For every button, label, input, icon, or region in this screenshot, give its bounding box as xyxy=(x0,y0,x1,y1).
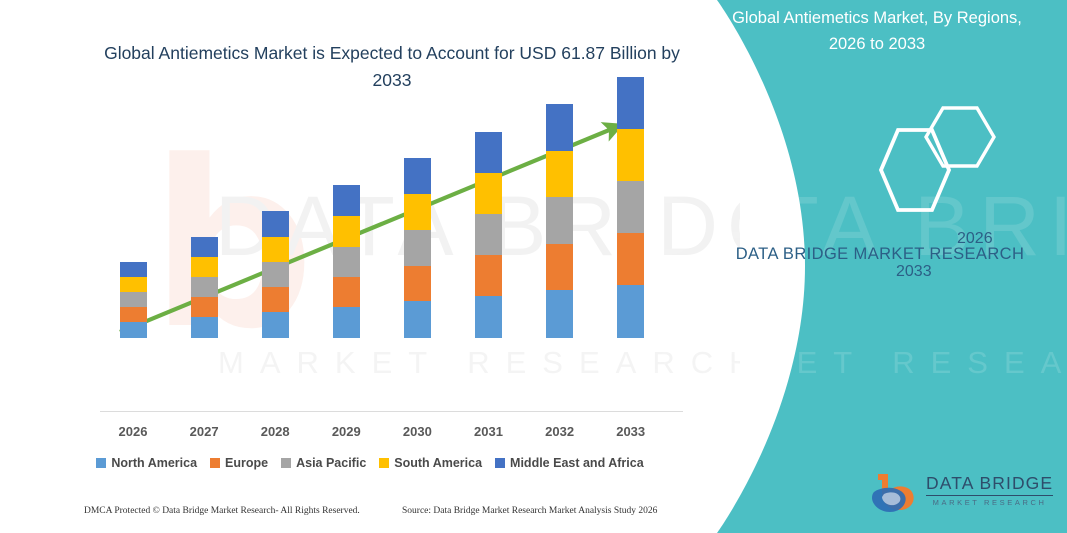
x-label-2033: 2033 xyxy=(601,424,661,439)
bar-segment xyxy=(333,216,360,247)
chart-legend: North AmericaEuropeAsia PacificSouth Ame… xyxy=(0,456,740,470)
bar-segment xyxy=(475,132,502,173)
right-info-panel: DATA BRIDGE MARKET RESEARCH Global Antie… xyxy=(687,0,1067,533)
bar-segment xyxy=(404,230,431,266)
bar-segment xyxy=(333,277,360,307)
bar-segment xyxy=(191,317,218,338)
bar-2032 xyxy=(546,104,573,338)
legend-swatch-icon xyxy=(379,458,389,468)
hexagon-group: 2026 2033 xyxy=(785,100,1005,210)
bar-segment xyxy=(333,307,360,338)
bar-segment xyxy=(191,277,218,297)
bar-2031 xyxy=(475,132,502,338)
bar-segment xyxy=(120,307,147,322)
legend-label: North America xyxy=(111,456,197,470)
data-bridge-logo: DATA BRIDGE MARKET RESEARCH xyxy=(868,470,1048,518)
bar-2030 xyxy=(404,158,431,338)
bar-segment xyxy=(475,214,502,255)
bar-segment xyxy=(262,237,289,262)
legend-label: Middle East and Africa xyxy=(510,456,644,470)
bar-2033 xyxy=(617,77,644,338)
bar-segment xyxy=(262,211,289,237)
logo-mark-icon xyxy=(868,470,924,516)
x-label-2027: 2027 xyxy=(174,424,234,439)
bar-2026 xyxy=(120,262,147,338)
legend-label: Europe xyxy=(225,456,268,470)
logo-sub-text: MARKET RESEARCH xyxy=(926,498,1053,507)
bar-segment xyxy=(546,244,573,290)
x-label-2030: 2030 xyxy=(387,424,447,439)
bar-2029 xyxy=(333,185,360,338)
hexagon-2033 xyxy=(881,130,949,210)
bar-segment xyxy=(262,262,289,287)
hexagon-shapes xyxy=(785,100,1005,215)
bar-segment xyxy=(617,285,644,338)
bar-segment xyxy=(475,296,502,338)
footer-copyright: DMCA Protected © Data Bridge Market Rese… xyxy=(84,506,360,516)
legend-label: South America xyxy=(394,456,482,470)
bar-segment xyxy=(404,158,431,194)
bar-segment xyxy=(333,247,360,277)
bar-segment xyxy=(262,312,289,338)
legend-item[interactable]: North America xyxy=(96,456,197,470)
bar-segment xyxy=(191,237,218,257)
bar-segment xyxy=(475,173,502,214)
bar-segment xyxy=(617,233,644,285)
bar-2027 xyxy=(191,237,218,338)
bar-segment xyxy=(617,77,644,129)
footer-source: Source: Data Bridge Market Research Mark… xyxy=(402,506,657,516)
bar-segment xyxy=(475,255,502,296)
legend-item[interactable]: South America xyxy=(379,456,482,470)
bar-segment xyxy=(191,297,218,317)
legend-swatch-icon xyxy=(210,458,220,468)
legend-swatch-icon xyxy=(495,458,505,468)
bar-segment xyxy=(120,277,147,292)
bar-segment xyxy=(546,290,573,338)
logo-wordmark: DATA BRIDGE MARKET RESEARCH xyxy=(926,473,1053,507)
bar-segment xyxy=(191,257,218,277)
bar-segment xyxy=(617,181,644,233)
x-label-2028: 2028 xyxy=(245,424,305,439)
x-label-2032: 2032 xyxy=(530,424,590,439)
logo-main-text: DATA BRIDGE xyxy=(926,473,1053,496)
legend-item[interactable]: Europe xyxy=(210,456,268,470)
bar-segment xyxy=(404,301,431,338)
bar-segment xyxy=(262,287,289,312)
legend-swatch-icon xyxy=(281,458,291,468)
footer: DMCA Protected © Data Bridge Market Rese… xyxy=(0,506,740,526)
bar-segment xyxy=(546,104,573,151)
bar-segment xyxy=(120,292,147,307)
bar-segment xyxy=(404,194,431,230)
bar-segment xyxy=(120,262,147,277)
panel-title: Global Antiemetics Market, By Regions, 2… xyxy=(727,6,1027,57)
x-label-2031: 2031 xyxy=(459,424,519,439)
bar-segment xyxy=(546,197,573,244)
x-label-2026: 2026 xyxy=(103,424,163,439)
bar-segment xyxy=(333,185,360,216)
legend-item[interactable]: Middle East and Africa xyxy=(495,456,644,470)
legend-item[interactable]: Asia Pacific xyxy=(281,456,366,470)
bar-segment xyxy=(120,322,147,338)
x-axis-line xyxy=(100,411,683,412)
bar-2028 xyxy=(262,211,289,338)
bar-segment xyxy=(617,129,644,181)
panel-brand-name: DATA BRIDGE MARKET RESEARCH xyxy=(735,241,1025,268)
legend-swatch-icon xyxy=(96,458,106,468)
bar-segment xyxy=(546,151,573,197)
x-label-2029: 2029 xyxy=(316,424,376,439)
legend-label: Asia Pacific xyxy=(296,456,366,470)
bar-segment xyxy=(404,266,431,301)
infographic-root: b DATA BRIDGE MARKET RESEARCH DATA BRIDG… xyxy=(0,0,1067,533)
stacked-bar-chart: 20262027202820292030203120322033 xyxy=(0,0,740,460)
